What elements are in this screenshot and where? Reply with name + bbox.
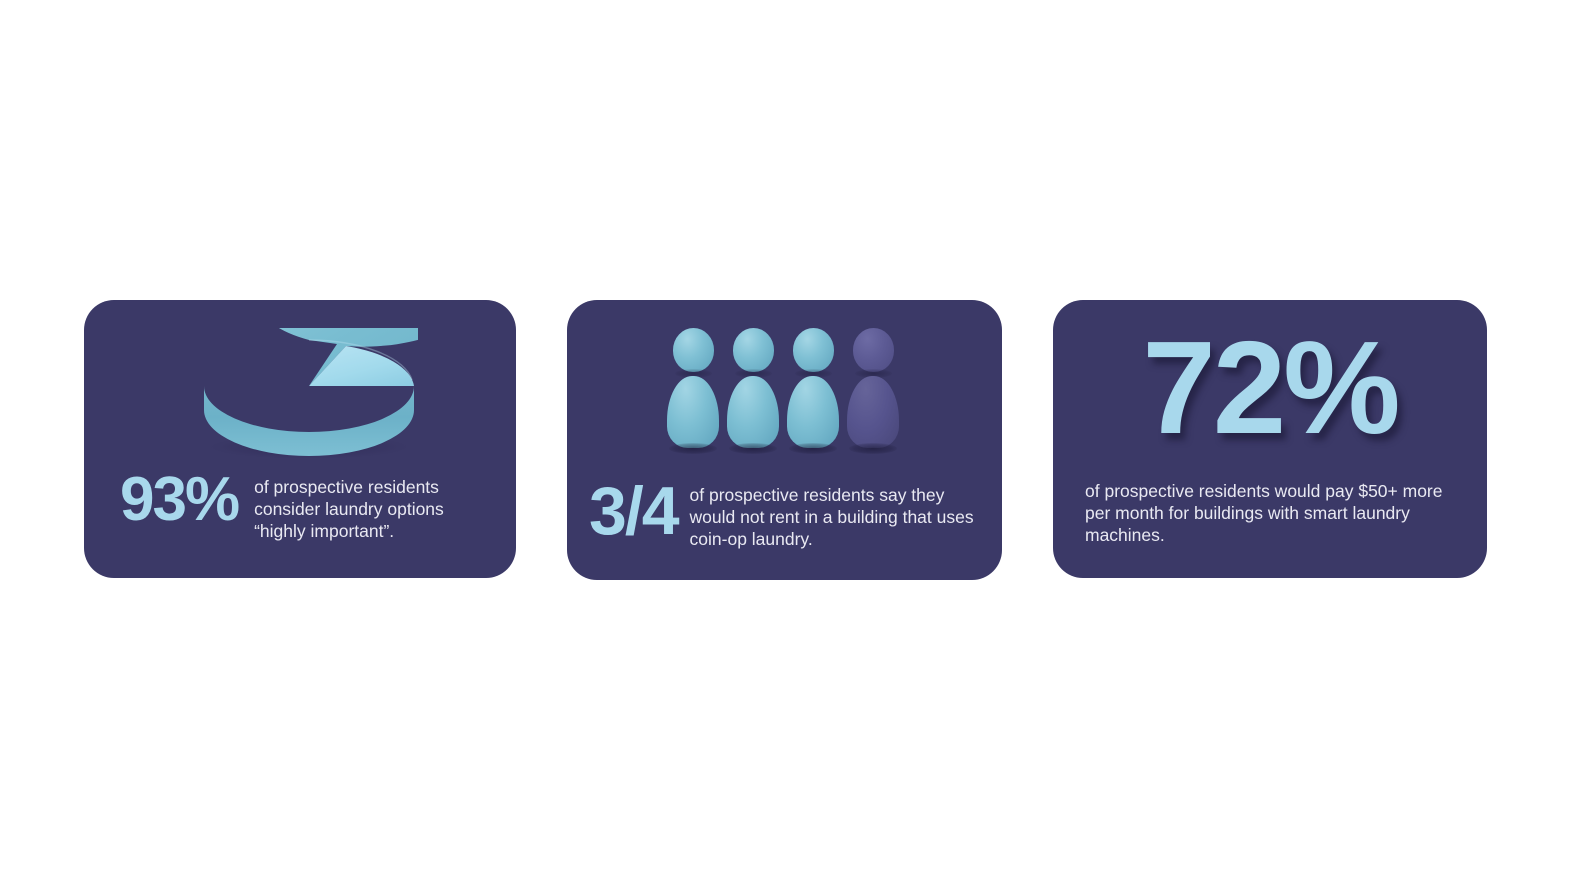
person-body-icon	[787, 376, 839, 448]
person-icon-1	[664, 328, 722, 454]
person-icon-2	[724, 328, 782, 454]
card-2-text-row: 3/4 of prospective residents say they wo…	[589, 480, 987, 550]
card-1-text-row: 93% of prospective residents consider la…	[120, 469, 492, 542]
stat-description: of prospective residents consider laundr…	[254, 469, 492, 542]
stat-card-people: 3/4 of prospective residents say they wo…	[567, 300, 1002, 580]
person-ground-shadow	[669, 443, 717, 454]
stat-description: of prospective residents would pay $50+ …	[1085, 480, 1457, 546]
stat-figure-value: 3/4	[589, 480, 678, 543]
stat-card-pie: 93% of prospective residents consider la…	[84, 300, 516, 578]
stat-card-group: 93% of prospective residents consider la…	[0, 0, 1583, 890]
person-head-icon	[793, 328, 834, 372]
pie-chart-svg	[196, 328, 418, 458]
person-body-icon	[727, 376, 779, 448]
person-head-icon	[733, 328, 774, 372]
person-head-icon	[673, 328, 714, 372]
people-pictogram	[664, 328, 904, 454]
person-body-icon	[847, 376, 899, 448]
stat-description: of prospective residents say they would …	[690, 480, 987, 550]
person-icon-3	[784, 328, 842, 454]
person-ground-shadow	[789, 443, 837, 454]
card-3-visual: 72%	[1053, 322, 1487, 454]
person-ground-shadow	[849, 443, 897, 454]
person-ground-shadow	[729, 443, 777, 454]
stat-figure-value: 93%	[120, 471, 238, 528]
stat-figure-value: 72%	[1142, 322, 1397, 454]
stat-card-percentage: 72% of prospective residents would pay $…	[1053, 300, 1487, 578]
person-icon-4-dimmed	[844, 328, 902, 454]
person-body-icon	[667, 376, 719, 448]
person-head-icon	[853, 328, 894, 372]
pie-chart-3d	[196, 328, 418, 458]
